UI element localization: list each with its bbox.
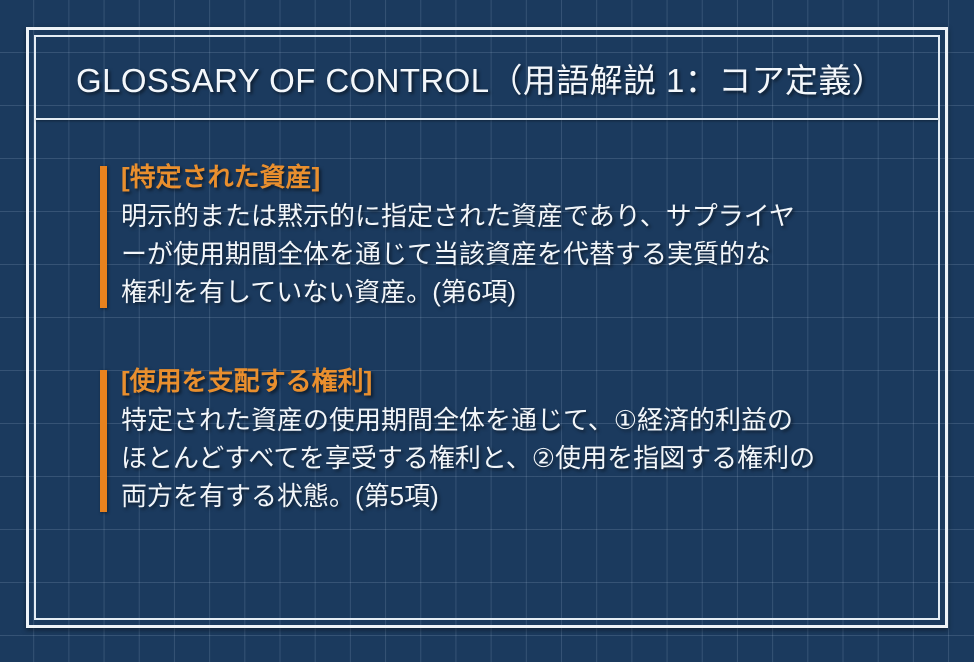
definition-body: 特定された資産の使用期間全体を通じて、①経済的利益の ほとんどすべてを享受する権… — [121, 402, 930, 516]
definition-line: ーが使用期間全体を通じて当該資産を代替する実質的な — [121, 236, 930, 274]
page-title: GLOSSARY OF CONTROL（用語解説 1：コア定義） — [76, 54, 885, 102]
definition-line: 両方を有する状態。(第5項) — [121, 478, 930, 516]
accent-bar-icon — [100, 166, 107, 308]
title-separator-rule — [36, 118, 938, 120]
definition-block-right-to-control-use: [使用を支配する権利] 特定された資産の使用期間全体を通じて、①経済的利益の ほ… — [100, 364, 930, 516]
slide-canvas: GLOSSARY OF CONTROL（用語解説 1：コア定義） [特定された資… — [0, 0, 974, 662]
definition-body: 明示的または黙示的に指定された資産であり、サプライヤ ーが使用期間全体を通じて当… — [121, 198, 930, 312]
definition-line: 特定された資産の使用期間全体を通じて、①経済的利益の — [121, 402, 930, 440]
slide-title-bar: GLOSSARY OF CONTROL（用語解説 1：コア定義） — [34, 35, 940, 120]
definition-line: 明示的または黙示的に指定された資産であり、サプライヤ — [121, 198, 930, 236]
definition-list: [特定された資産] 明示的または黙示的に指定された資産であり、サプライヤ ーが使… — [100, 160, 930, 516]
definition-term: [使用を支配する権利] — [121, 364, 930, 399]
definition-line: 権利を有していない資産。(第6項) — [121, 274, 930, 312]
definition-term: [特定された資産] — [121, 160, 930, 195]
accent-bar-icon — [100, 370, 107, 512]
definition-block-identified-asset: [特定された資産] 明示的または黙示的に指定された資産であり、サプライヤ ーが使… — [100, 160, 930, 312]
definition-line: ほとんどすべてを享受する権利と、②使用を指図する権利の — [121, 440, 930, 478]
